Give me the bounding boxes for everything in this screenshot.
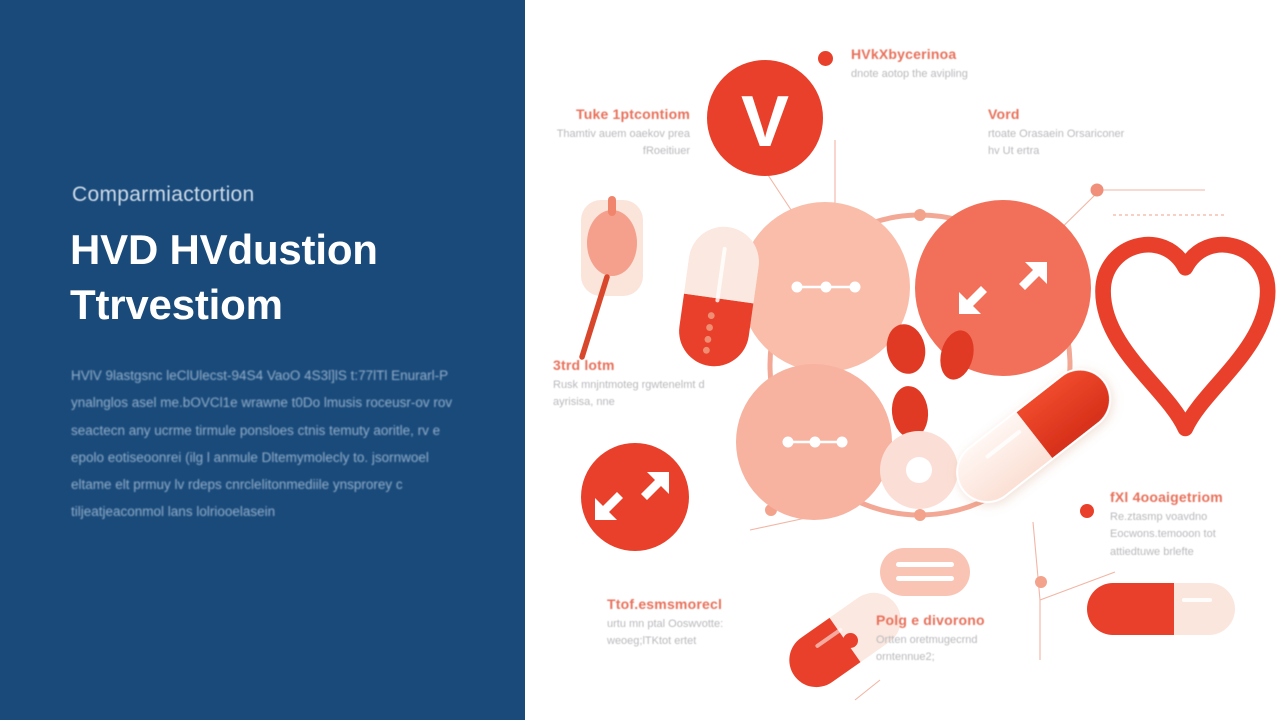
label-subtitle: Re.ztasmp voavdno Eocwons.temooon tot at… xyxy=(1110,509,1265,561)
node-circle-expand xyxy=(915,200,1091,376)
label-title: Ttof.esmsmorecl xyxy=(607,596,767,612)
brand-mark-letter: V xyxy=(741,82,789,162)
capsule-bottom-right xyxy=(1087,583,1235,635)
ring-node-lowerright xyxy=(1035,576,1047,588)
tablet-cluster xyxy=(882,321,978,440)
slide-root: Comparmiactortion HVD HVdustion Ttrvesti… xyxy=(0,0,1280,720)
label-title: 3trd lotm xyxy=(553,357,728,373)
label-dot-full-management xyxy=(1080,504,1094,518)
capsule-upright xyxy=(675,222,764,370)
label-subtitle: urtu mn ptal Ooswvotte: weoeg;lTKtot ert… xyxy=(607,616,767,651)
label-subtitle: Ortten oretmugecrnd orntennue2; xyxy=(876,632,1026,667)
node-circle-expand-outer xyxy=(581,443,689,551)
label-dot-page-divrerio xyxy=(843,633,858,648)
body-paragraph: HVlV 9lastgsnc leClUlecst-94S4 VaoO 4S3l… xyxy=(71,362,471,526)
label-subtitle: Rusk mnjntmoteg rgwtenelmt d ayrisisa, n… xyxy=(553,377,728,412)
left-panel: Comparmiactortion HVD HVdustion Ttrvesti… xyxy=(0,0,525,720)
headline-line-2: Ttrvestiom xyxy=(70,277,500,332)
label-title: fXl 4ooaigetriom xyxy=(1110,489,1265,505)
label-subtitle: Thamtiv auem oaekov prea fRoeitiuer xyxy=(545,126,690,161)
label-full-management[interactable]: fXl 4ooaigetriom Re.ztasmp voavdno Eocwo… xyxy=(1110,489,1265,561)
label-title: Polg e divorono xyxy=(876,612,1026,628)
label-that-esmoored[interactable]: Ttof.esmsmorecl urtu mn ptal Ooswvotte: … xyxy=(607,596,767,651)
capsule-large xyxy=(944,356,1124,516)
list-card xyxy=(880,548,970,596)
ring-node-top xyxy=(914,209,926,221)
label-title: HVkXbycerinoa xyxy=(851,46,996,62)
label-title: Tuke 1ptcontiom xyxy=(545,106,690,122)
right-panel: V xyxy=(525,0,1280,720)
page-title: HVD HVdustion Ttrvestiom xyxy=(70,222,500,333)
label-subtitle: rtoate Orasaein Orsariconer hv Ut ertra xyxy=(988,126,1128,161)
donut-tablet xyxy=(880,431,958,509)
headline-line-1: HVD HVdustion xyxy=(70,226,378,273)
label-third-form[interactable]: 3trd lotm Rusk mnjntmoteg rgwtenelmt d a… xyxy=(553,357,728,412)
label-page-divrerio[interactable]: Polg e divorono Ortten oretmugecrnd ornt… xyxy=(876,612,1026,667)
label-hyperglycemia[interactable]: HVkXbycerinoa dnote aotop the avipling xyxy=(851,46,996,83)
ring-node-topright xyxy=(1091,184,1104,197)
label-title: Vord xyxy=(988,106,1128,122)
heart-outline-icon xyxy=(1103,245,1268,429)
eyebrow-text: Comparmiactortion xyxy=(72,183,472,207)
ring-node-bottom xyxy=(914,509,926,521)
label-tube-application[interactable]: Tuke 1ptcontiom Thamtiv auem oaekov prea… xyxy=(545,106,690,161)
label-subtitle: dnote aotop the avipling xyxy=(851,66,996,83)
label-ford[interactable]: Vord rtoate Orasaein Orsariconer hv Ut e… xyxy=(988,106,1128,161)
label-dot-hyperglycemia xyxy=(818,51,833,66)
syringe-icon xyxy=(581,196,643,357)
